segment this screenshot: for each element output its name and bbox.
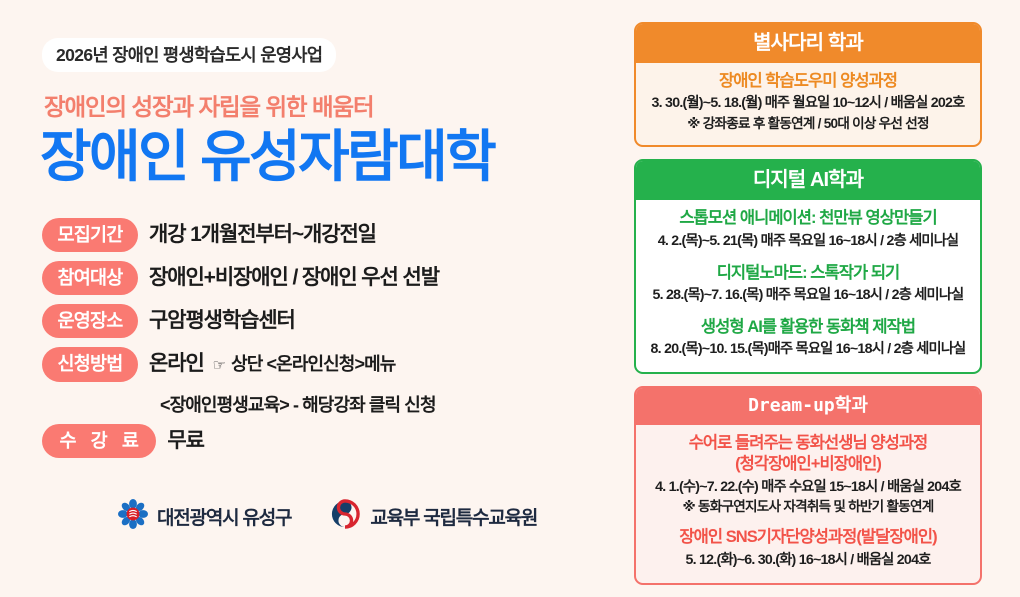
eyebrow-tag: 2026년 장애인 평생학습도시 운영사업 [42, 38, 336, 72]
info-row: 참여대상 장애인+비장애인 / 장애인 우선 선발 [42, 261, 602, 295]
department-body-byeolsadari: 장애인 학습도우미 양성과정 3. 30.(월)~5. 18.(월) 매주 월요… [636, 63, 980, 145]
course-name: 디지털노마드: 스톡작가 되기 [646, 263, 970, 284]
course-detail: 5. 28.(목)~7. 16.(목) 매주 목요일 16~18시 / 2층 세… [646, 286, 970, 306]
pointing-hand-icon: ☞ [213, 357, 226, 374]
info-value-application-method: 온라인☞상단 <온라인신청>메뉴 [149, 347, 395, 379]
course-name: 스톱모션 애니메이션: 천만뷰 영상만들기 [646, 208, 970, 229]
info-row: 수 강 료 무료 [42, 424, 602, 458]
info-badge-tuition-fee: 수 강 료 [42, 424, 156, 458]
info-value-recruit-period: 개강 1개월전부터~개강전일 [149, 218, 376, 250]
course-name: 수어로 들려주는 동화선생님 양성과정(청각장애인+비장애인) [646, 433, 970, 476]
info-badge-location: 운영장소 [42, 304, 138, 338]
page-title: 장애인 유성자람대학 [40, 126, 494, 188]
department-card-dream-up: Dream-up학과 수어로 들려주는 동화선생님 양성과정(청각장애인+비장애… [634, 386, 982, 584]
poster-canvas: 2026년 장애인 평생학습도시 운영사업 장애인의 성장과 자립을 위한 배움… [0, 0, 1020, 550]
course-name: 생성형 AI를 활용한 동화책 제작법 [646, 317, 970, 338]
footer-logo-bar: 대전광역시 유성구 교육부 국립특수교육원 [118, 498, 537, 535]
korea-government-taegeuk-icon [329, 498, 361, 535]
info-badge-target-audience: 참여대상 [42, 261, 138, 295]
info-value-location: 구암평생학습센터 [149, 304, 295, 336]
department-header-digital-ai: 디지털 AI학과 [636, 161, 980, 200]
info-row: 신청방법 온라인☞상단 <온라인신청>메뉴 [42, 347, 602, 381]
info-row: 모집기간 개강 1개월전부터~개강전일 [42, 218, 602, 252]
department-card-list: 별사다리 학과 장애인 학습도우미 양성과정 3. 30.(월)~5. 18.(… [634, 22, 982, 597]
info-value-application-method-line2: <장애인평생교육> - 해당강좌 클릭 신청 [160, 391, 602, 417]
department-card-digital-ai: 디지털 AI학과 스톱모션 애니메이션: 천만뷰 영상만들기 4. 2.(목)~… [634, 159, 982, 374]
department-card-byeolsadari: 별사다리 학과 장애인 학습도우미 양성과정 3. 30.(월)~5. 18.(… [634, 22, 982, 147]
info-row: 운영장소 구암평생학습센터 [42, 304, 602, 338]
logo-yuseong-gu: 대전광역시 유성구 [118, 499, 291, 534]
course-note: ※ 동화구연지도사 자격취득 및 하반기 활동연계 [646, 497, 970, 516]
yuseong-gu-emblem-icon [118, 499, 148, 534]
course-note: ※ 강좌종료 후 활동연계 / 50대 이상 우선 선정 [646, 114, 970, 133]
eyebrow-tag-wrapper: 2026년 장애인 평생학습도시 운영사업 [42, 38, 336, 72]
info-badge-application-method: 신청방법 [42, 347, 138, 381]
info-value-tuition-fee: 무료 [167, 424, 203, 456]
course-detail: 5. 12.(화)~6. 30.(화) 16~18시 / 배움실 204호 [646, 551, 970, 571]
course-detail: 4. 2.(목)~5. 21(목) 매주 목요일 16~18시 / 2층 세미나… [646, 232, 970, 252]
logo-label-yuseong-gu: 대전광역시 유성구 [157, 503, 291, 530]
application-method-menu-path: 상단 <온라인신청>메뉴 [231, 354, 395, 374]
department-body-dream-up: 수어로 들려주는 동화선생님 양성과정(청각장애인+비장애인) 4. 1.(수)… [636, 425, 980, 583]
department-header-dream-up: Dream-up학과 [636, 388, 980, 424]
logo-label-korea-government: 교육부 국립특수교육원 [370, 503, 537, 530]
course-detail: 8. 20.(목)~10. 15.(목)매주 목요일 16~18시 / 2층 세… [646, 340, 970, 360]
course-item: 장애인 학습도우미 양성과정 3. 30.(월)~5. 18.(월) 매주 월요… [646, 71, 970, 133]
course-item: 생성형 AI를 활용한 동화책 제작법 8. 20.(목)~10. 15.(목)… [646, 317, 970, 360]
left-content-column: 2026년 장애인 평생학습도시 운영사업 장애인의 성장과 자립을 위한 배움… [0, 0, 625, 550]
info-badge-recruit-period: 모집기간 [42, 218, 138, 252]
course-item: 장애인 SNS기자단양성과정(발달장애인) 5. 12.(화)~6. 30.(화… [646, 527, 970, 570]
application-method-online: 온라인 [149, 352, 204, 375]
course-name: 장애인 학습도우미 양성과정 [646, 71, 970, 92]
poster-subtitle: 장애인의 성장과 자립을 위한 배움터 [44, 88, 374, 122]
logo-korea-government: 교육부 국립특수교육원 [329, 498, 537, 535]
department-header-byeolsadari: 별사다리 학과 [636, 24, 980, 63]
department-body-digital-ai: 스톱모션 애니메이션: 천만뷰 영상만들기 4. 2.(목)~5. 21(목) … [636, 200, 980, 372]
info-value-target-audience: 장애인+비장애인 / 장애인 우선 선발 [149, 261, 439, 293]
course-item: 스톱모션 애니메이션: 천만뷰 영상만들기 4. 2.(목)~5. 21(목) … [646, 208, 970, 251]
course-detail: 3. 30.(월)~5. 18.(월) 매주 월요일 10~12시 / 배움실 … [646, 94, 970, 114]
info-list: 모집기간 개강 1개월전부터~개강전일 참여대상 장애인+비장애인 / 장애인 … [42, 218, 602, 467]
course-detail: 4. 1.(수)~7. 22.(수) 매주 수요일 15~18시 / 배움실 2… [646, 478, 970, 498]
course-name: 장애인 SNS기자단양성과정(발달장애인) [646, 527, 970, 548]
course-item: 디지털노마드: 스톡작가 되기 5. 28.(목)~7. 16.(목) 매주 목… [646, 263, 970, 306]
course-item: 수어로 들려주는 동화선생님 양성과정(청각장애인+비장애인) 4. 1.(수)… [646, 433, 970, 517]
